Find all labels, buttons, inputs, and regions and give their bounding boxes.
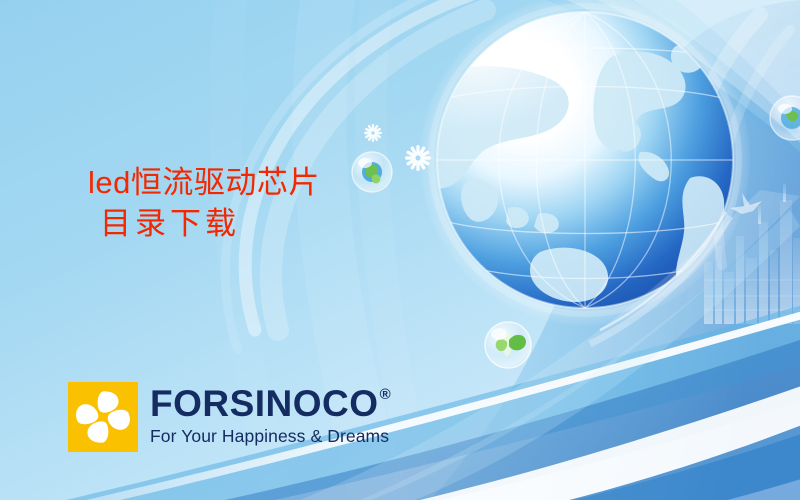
bubble-with-globe	[352, 152, 392, 192]
promo-banner: led恒流驱动芯片 目录下载 FORSINOCO	[0, 0, 800, 500]
bubble-with-leaf	[485, 322, 531, 368]
logo-wordmark: FORSINOCO ® For Your Happiness & Dreams	[150, 382, 391, 447]
logo-name-row: FORSINOCO ®	[150, 385, 391, 422]
pinwheel-four-petal-icon	[68, 382, 138, 452]
logo-mark-square	[68, 382, 138, 452]
registered-trademark-icon: ®	[380, 387, 391, 402]
logo-tagline: For Your Happiness & Dreams	[150, 426, 391, 447]
logo-company-name: FORSINOCO	[150, 385, 379, 422]
company-logo[interactable]: FORSINOCO ® For Your Happiness & Dreams	[68, 382, 391, 452]
